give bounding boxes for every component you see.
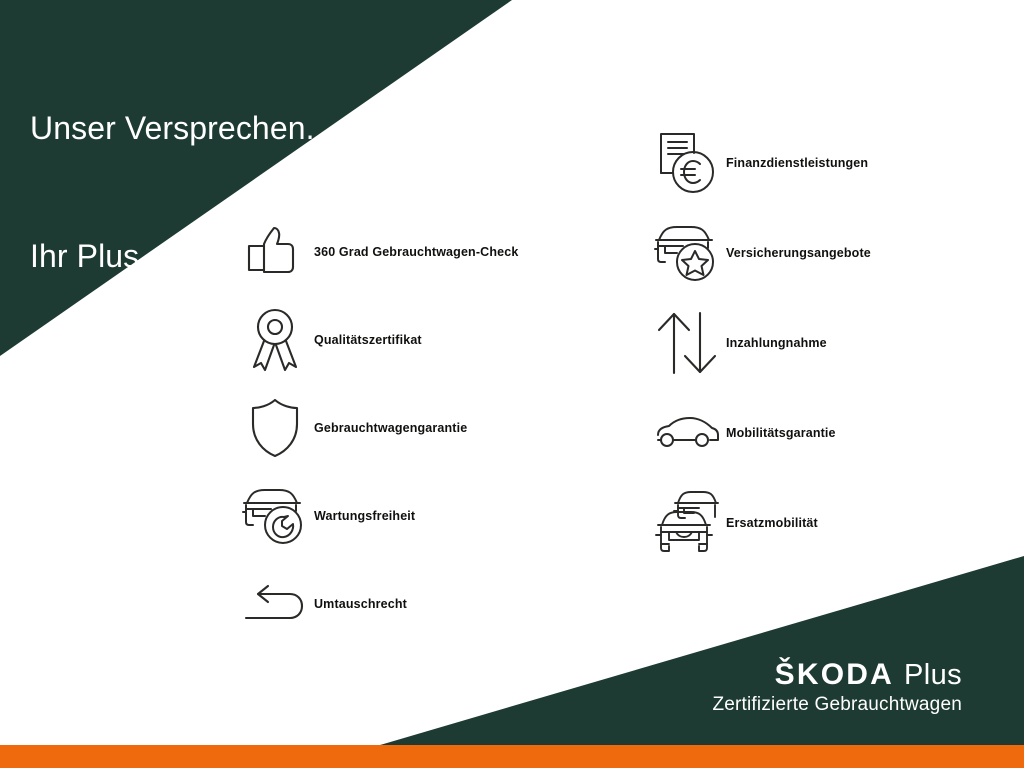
feature-item-mobilitaetsgarantie: Mobilitätsgarantie	[648, 388, 1018, 478]
headline-line-1: Unser Versprechen.	[30, 107, 315, 150]
feature-item-versicherungsangebote: Versicherungsangebote	[648, 208, 1018, 298]
feature-label: 360 Grad Gebrauchtwagen-Check	[314, 245, 518, 259]
car-star-icon	[648, 217, 726, 289]
feature-label: Qualitätszertifikat	[314, 333, 422, 347]
feature-list-left: 360 Grad Gebrauchtwagen-Check Qualitätsz…	[236, 208, 596, 648]
feature-label: Ersatzmobilität	[726, 516, 818, 530]
logo-top-line: ŠKODA Plus	[712, 658, 962, 692]
promo-slide: Unser Versprechen. Ihr Plus. 360 Grad Ge…	[0, 0, 1024, 768]
logo-subtitle: Zertifizierte Gebrauchtwagen	[712, 694, 962, 716]
two-cars-icon	[648, 487, 726, 559]
up-down-arrows-icon	[648, 307, 726, 379]
feature-item-umtauschrecht: Umtauschrecht	[236, 560, 596, 648]
document-euro-icon	[648, 127, 726, 199]
thumbs-up-icon	[236, 216, 314, 288]
feature-item-inzahlungnahme: Inzahlungnahme	[648, 298, 1018, 388]
feature-label: Finanzdienstleistungen	[726, 156, 868, 170]
car-side-icon	[648, 397, 726, 469]
orange-bottom-band	[0, 745, 1024, 768]
shield-icon	[236, 392, 314, 464]
feature-label: Umtauschrecht	[314, 597, 407, 611]
feature-item-gebrauchtwagengarantie: Gebrauchtwagengarantie	[236, 384, 596, 472]
feature-item-qualitaetszertifikat: Qualitätszertifikat	[236, 296, 596, 384]
skoda-wordmark: ŠKODA	[775, 658, 894, 692]
feature-label: Gebrauchtwagengarantie	[314, 421, 467, 435]
feature-item-360-check: 360 Grad Gebrauchtwagen-Check	[236, 208, 596, 296]
feature-label: Inzahlungnahme	[726, 336, 827, 350]
feature-item-wartungsfreiheit: Wartungsfreiheit	[236, 472, 596, 560]
return-arrow-icon	[236, 568, 314, 640]
car-wrench-icon	[236, 480, 314, 552]
rosette-medal-icon	[236, 304, 314, 376]
feature-item-finanzdienstleistungen: Finanzdienstleistungen	[648, 118, 1018, 208]
skoda-plus-logo: ŠKODA Plus Zertifizierte Gebrauchtwagen	[712, 658, 962, 716]
feature-label: Versicherungsangebote	[726, 246, 871, 260]
feature-label: Mobilitätsgarantie	[726, 426, 836, 440]
feature-list-right: Finanzdienstleistungen Versicherungsange…	[648, 118, 1018, 568]
feature-label: Wartungsfreiheit	[314, 509, 415, 523]
logo-plus-word: Plus	[904, 659, 962, 692]
feature-item-ersatzmobilitaet: Ersatzmobilität	[648, 478, 1018, 568]
